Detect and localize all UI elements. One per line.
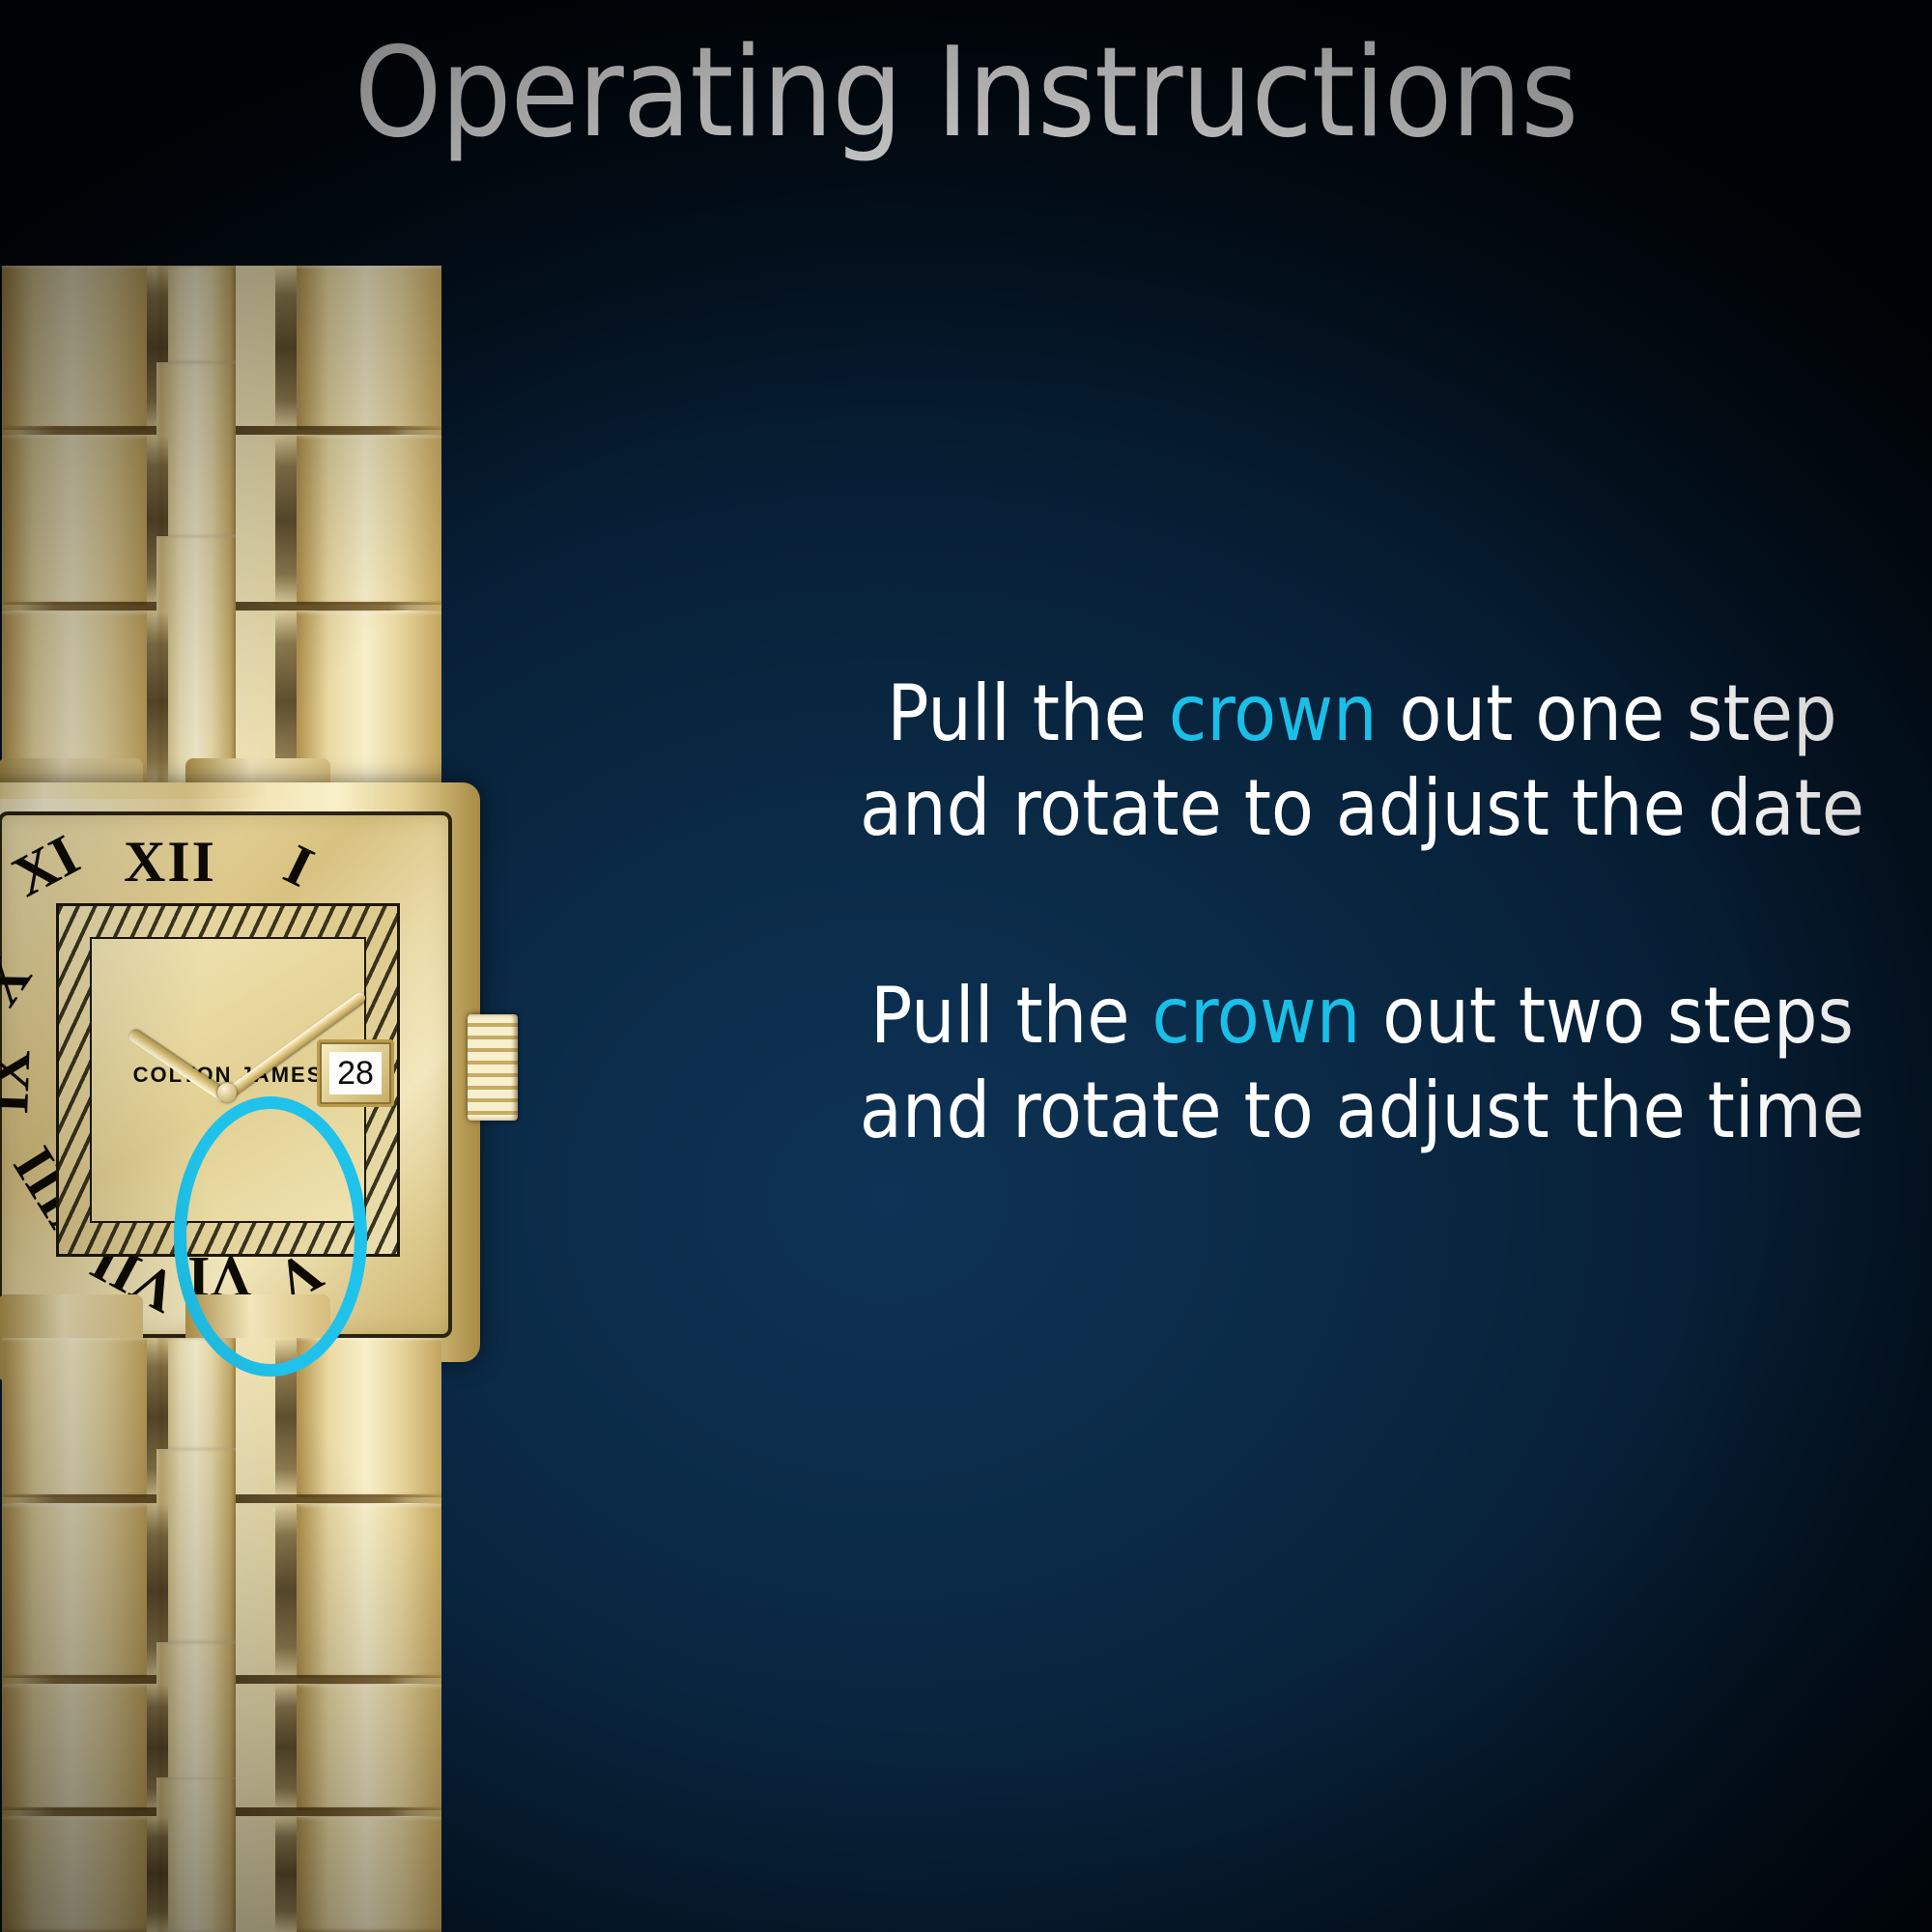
numeral-xi: XI [4, 825, 88, 906]
numeral-ix: IX [0, 1049, 39, 1116]
bracelet-upper [2, 266, 441, 792]
bracelet-lower [2, 1338, 441, 1932]
numeral-x: X [0, 948, 42, 1014]
numeral-xii: XII [124, 833, 216, 891]
slide-canvas: Operating Instructions [0, 0, 1932, 1932]
watch-product-image: XII XI I X II IX III VIII VII VI V IV CO… [0, 246, 580, 1932]
hand-pinion [217, 1083, 237, 1102]
crown[interactable] [468, 1014, 518, 1121]
instruction-2-keyword: crown [1151, 971, 1360, 1061]
date-window: 28 [317, 1039, 394, 1107]
instruction-1-before: Pull the [887, 668, 1168, 758]
date-value: 28 [329, 1052, 382, 1094]
instruction-1-keyword: crown [1169, 668, 1378, 758]
instruction-paragraph-2: Pull the crown out two steps and rotate … [831, 969, 1893, 1157]
instruction-paragraph-1: Pull the crown out one step and rotate t… [831, 667, 1893, 855]
numeral-i: I [276, 835, 322, 896]
instruction-2-before: Pull the [870, 971, 1151, 1061]
instructions-block: Pull the crown out one step and rotate t… [831, 667, 1893, 1157]
page-title: Operating Instructions [0, 29, 1932, 158]
crown-highlight-ellipse-icon [174, 1096, 367, 1377]
